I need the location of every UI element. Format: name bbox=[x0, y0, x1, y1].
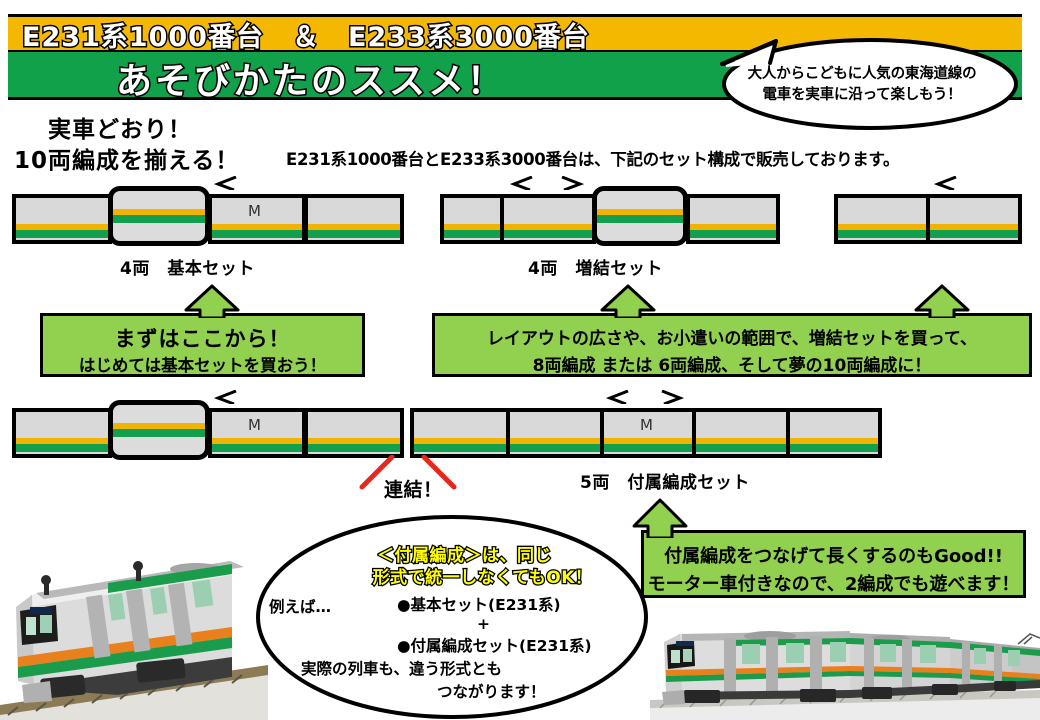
car-basic-2-highlight bbox=[108, 186, 210, 246]
motor-car-label-bl: M bbox=[248, 416, 261, 434]
oval-callout: ＜付属編成＞は、同じ 形式で統一しなくてもOK！ 例えば… ●基本セット(E23… bbox=[255, 515, 650, 720]
pantograph-icon-extra2 bbox=[934, 176, 960, 190]
arrow-up-extra2 bbox=[912, 284, 972, 318]
lead-line1: 実車どおり！ bbox=[48, 110, 192, 144]
trainset-extra2 bbox=[834, 186, 1024, 248]
oval-note1: 実際の列車も、違う形式とも bbox=[301, 657, 502, 679]
pantograph-icon-at-a bbox=[606, 390, 632, 404]
pantograph-icon-bl bbox=[214, 390, 240, 404]
photo-model-train-right bbox=[650, 608, 1040, 720]
balloon-line2: 電車を実車に沿って楽しもう！ bbox=[762, 87, 961, 103]
page-title-line2: あそびかたのススメ！ bbox=[116, 52, 506, 104]
car-basic-4 bbox=[304, 194, 404, 244]
setlabel-basic: 4両 基本セット bbox=[120, 254, 255, 279]
car-at-1 bbox=[410, 408, 510, 458]
car-bl-2-highlight bbox=[108, 400, 210, 460]
callout-attach-more-line2: モーター車付きなので、2編成でも遊べます！ bbox=[644, 570, 1023, 596]
trainset-addon bbox=[440, 186, 800, 248]
coupling-label: 連結！ bbox=[384, 475, 443, 502]
callout-attach-more-line1: 付属編成をつなげて長くするのもGood!! bbox=[644, 542, 1023, 568]
car-addon-2 bbox=[500, 194, 596, 244]
lead-line2: 10両編成を揃える！ bbox=[14, 141, 239, 175]
car-bl-1 bbox=[12, 408, 112, 458]
callout-start-here-line2: はじめては基本セットを買おう！ bbox=[43, 352, 362, 376]
car-bl-4 bbox=[304, 408, 404, 458]
callout-start-here: まずはここから！ はじめては基本セットを買おう！ bbox=[40, 313, 365, 377]
car-at-2 bbox=[506, 408, 604, 458]
balloon-line1: 大人からこどもに人気の東海道線の bbox=[748, 66, 977, 82]
callout-expand-line1: レイアウトの広さや、お小遣いの範囲で、増結セットを買って、 bbox=[435, 324, 1029, 349]
arrow-up-basic bbox=[182, 284, 242, 318]
oval-plus: + bbox=[477, 615, 490, 633]
car-addon-1 bbox=[440, 194, 504, 244]
motor-car-label-attached: M bbox=[640, 416, 653, 434]
pantograph-icon-basic bbox=[214, 176, 240, 190]
trainset-attached: M bbox=[410, 400, 900, 462]
oval-line2: 形式で統一しなくてもOK！ bbox=[285, 563, 680, 588]
pantograph-icon-at-b bbox=[658, 390, 684, 404]
car-at-4 bbox=[692, 408, 790, 458]
callout-start-here-line1: まずはここから！ bbox=[43, 323, 362, 353]
callout-expand-line2: 8両編成 または 6両編成、そして夢の10両編成に！ bbox=[435, 351, 1029, 376]
car-basic-1 bbox=[12, 194, 112, 244]
trainset-bottom-left: M bbox=[12, 400, 404, 462]
photo-model-train-left bbox=[0, 545, 268, 720]
coupling-indicator: 連結！ bbox=[348, 455, 468, 500]
page-title-line1: E231系1000番台 ＆ E233系3000番台 bbox=[22, 15, 590, 54]
oval-example-label: 例えば… bbox=[269, 595, 331, 617]
setlabel-addon: 4両 増結セット bbox=[528, 254, 663, 279]
header-speech-balloon: 大人からこどもに人気の東海道線の 電車を実車に沿って楽しもう！ bbox=[700, 30, 1020, 128]
arrow-up-addon bbox=[598, 284, 658, 318]
balloon-text: 大人からこどもに人気の東海道線の 電車を実車に沿って楽しもう！ bbox=[720, 64, 1004, 106]
setlabel-attached: 5両 付属編成セット bbox=[580, 468, 750, 493]
oval-item2: ●付属編成セット(E231系) bbox=[397, 634, 592, 656]
callout-expand: レイアウトの広さや、お小遣いの範囲で、増結セットを買って、 8両編成 または 6… bbox=[432, 313, 1032, 377]
car-extra2-2 bbox=[926, 194, 1022, 244]
pantograph-icon-addon-b bbox=[558, 176, 584, 190]
car-at-5 bbox=[786, 408, 882, 458]
trainset-basic: M bbox=[12, 186, 404, 248]
motor-car-label-basic: M bbox=[248, 202, 261, 220]
oval-note2: つながります！ bbox=[437, 680, 546, 702]
car-addon-4 bbox=[686, 194, 780, 244]
set-description: E231系1000番台とE233系3000番台は、下記のセット構成で販売しており… bbox=[286, 146, 899, 170]
car-extra2-1 bbox=[834, 194, 930, 244]
pantograph-icon-addon-a bbox=[510, 176, 536, 190]
callout-attach-more: 付属編成をつなげて長くするのもGood!! モーター車付きなので、2編成でも遊べ… bbox=[641, 530, 1026, 598]
car-addon-3-highlight bbox=[592, 186, 688, 246]
oval-item1: ●基本セット(E231系) bbox=[397, 593, 561, 615]
